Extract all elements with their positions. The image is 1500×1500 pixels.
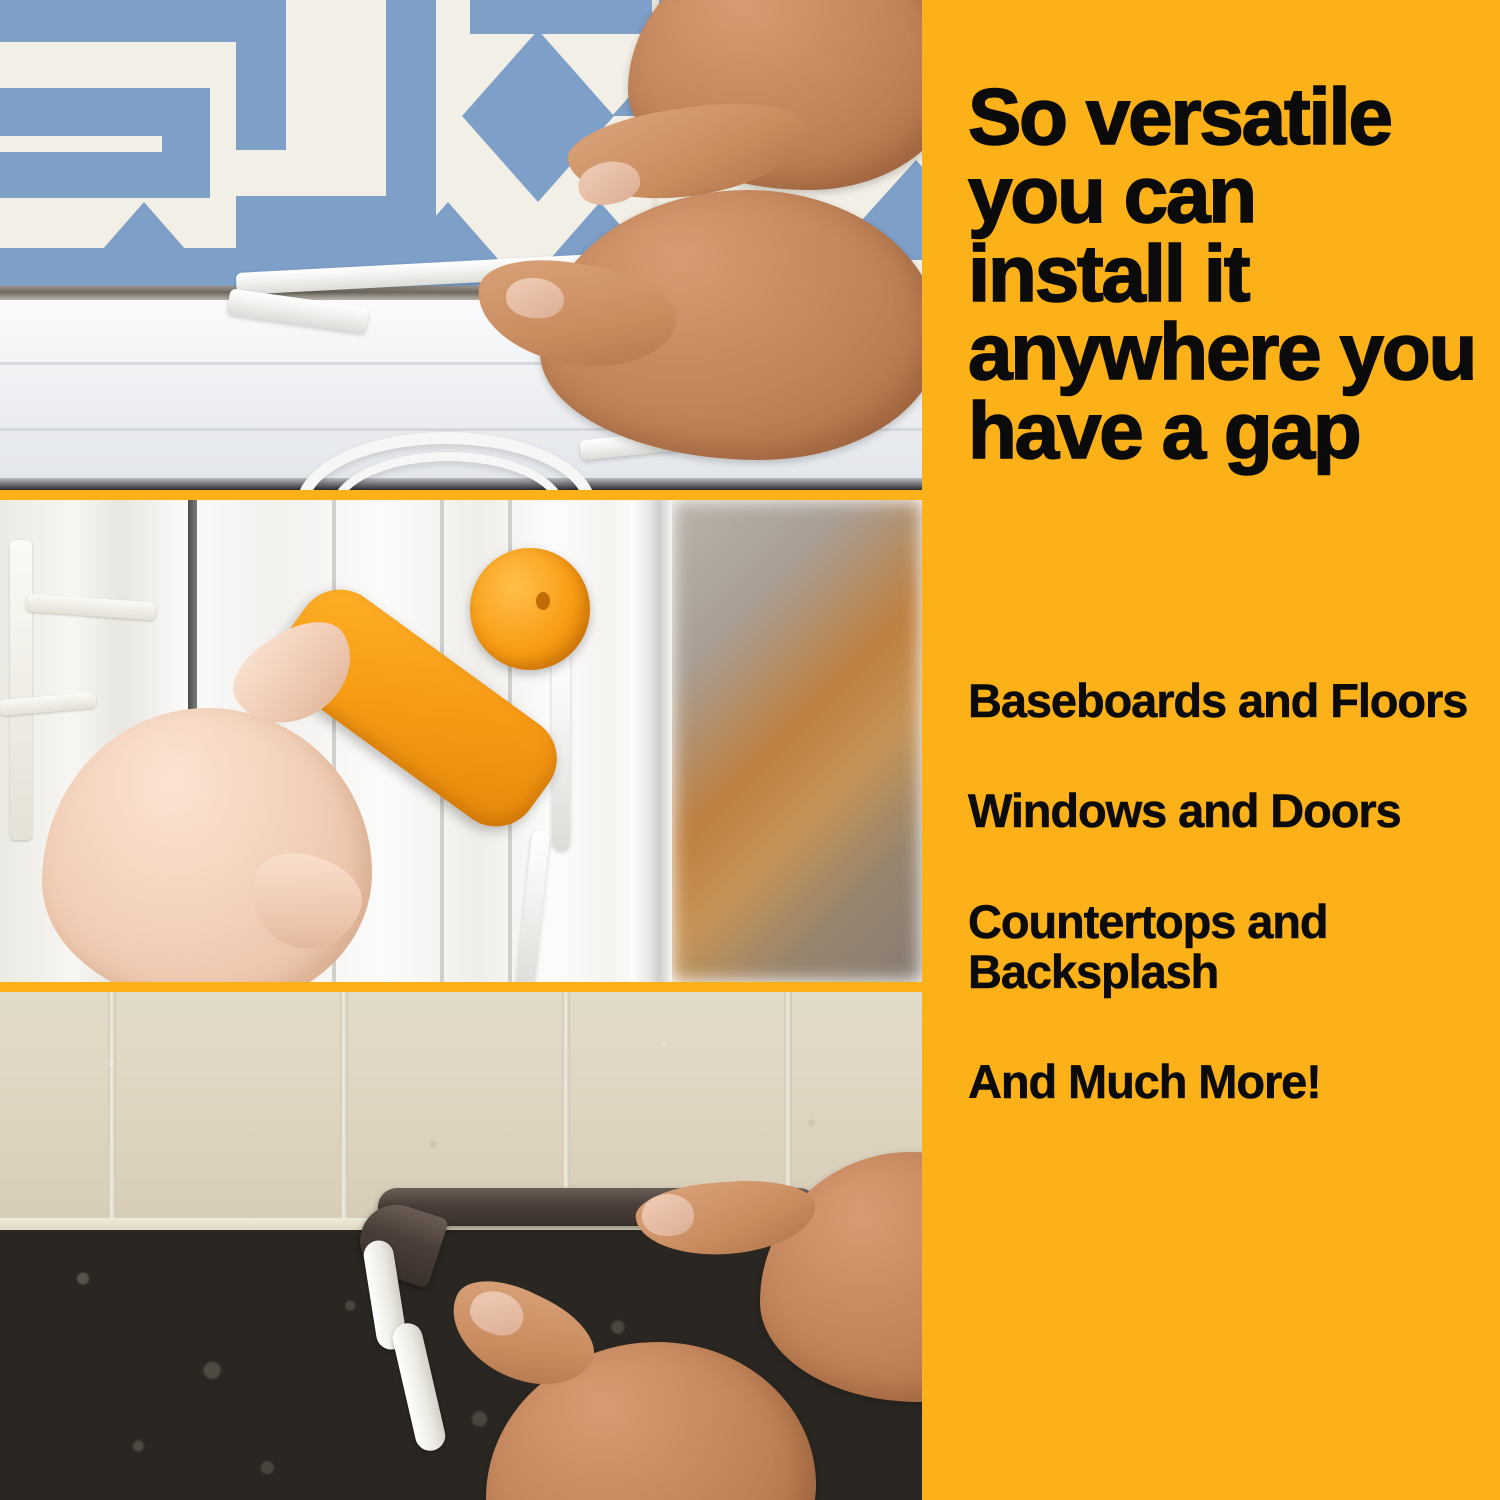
photo-column [0, 0, 922, 1500]
window-sash-frame [630, 500, 672, 982]
tool-vent-hole [536, 592, 550, 610]
orange-applicator-tool-head[interactable] [470, 548, 590, 670]
use-case-item-countertops: Countertops and Backsplash [968, 897, 1488, 998]
photo-panel-countertop [0, 992, 922, 1500]
panel-divider-top [0, 490, 922, 500]
product-feature-panel: So versatile you can install it anywhere… [0, 0, 1500, 1500]
text-column: So versatile you can install it anywhere… [922, 0, 1500, 1500]
photo-panel-window [0, 500, 922, 982]
photo-panel-backsplash [0, 0, 922, 490]
use-case-item-baseboards: Baseboards and Floors [968, 676, 1488, 726]
headline: So versatile you can install it anywhere… [968, 78, 1478, 470]
use-case-item-windows: Windows and Doors [968, 786, 1488, 836]
panel-divider-bottom [0, 982, 922, 992]
fingernail-right-counter [642, 1194, 694, 1236]
use-case-item-more: And Much More! [968, 1057, 1488, 1107]
use-case-list: Baseboards and Floors Windows and Doors … [968, 676, 1488, 1107]
old-caulk-residue [10, 540, 32, 840]
blurred-glass-pane [672, 500, 922, 982]
